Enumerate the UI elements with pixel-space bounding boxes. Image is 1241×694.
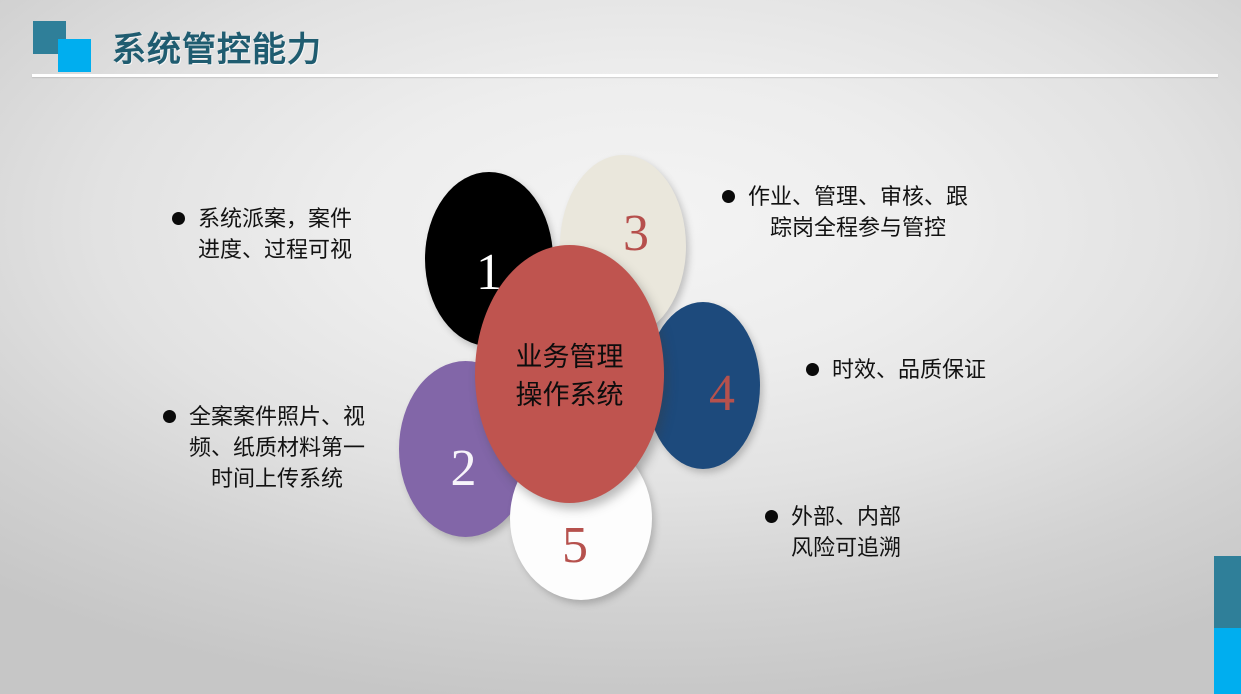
center-ellipse[interactable]: 业务管理 操作系统 [475,245,664,503]
callout-1: 系统派案，案件 进度、过程可视 [172,203,404,265]
callout-4-text: 时效、品质保证 [832,354,986,385]
callout-2-text: 全案案件照片、视 频、纸质材料第一 时间上传系统 [189,401,365,495]
petal-5-number: 5 [562,520,588,572]
callout-3: 作业、管理、审核、跟 踪岗全程参与管控 [722,181,1022,243]
bullet-icon [163,410,176,423]
callout-5: 外部、内部 风险可追溯 [765,501,995,563]
bullet-icon [722,190,735,203]
callout-4: 时效、品质保证 [806,354,1046,385]
callout-1-text: 系统派案，案件 进度、过程可视 [198,203,352,265]
callout-2: 全案案件照片、视 频、纸质材料第一 时间上传系统 [163,401,413,495]
bullet-icon [806,363,819,376]
callout-5-text: 外部、内部 风险可追溯 [791,501,901,563]
petal-2-number: 2 [451,443,477,495]
center-label: 业务管理 操作系统 [516,338,624,415]
bullet-icon [172,212,185,225]
petal-4-number: 4 [709,368,735,420]
callout-3-text: 作业、管理、审核、跟 踪岗全程参与管控 [748,181,968,243]
bullet-icon [765,510,778,523]
petal-3-number: 3 [623,208,649,260]
petal-diagram: 1 3 4 2 5 业务管理 操作系统 [0,0,1241,694]
slide-canvas: 系统管控能力 1 3 4 2 5 业务管理 操作系统 系统派案，案件 进度、过程… [0,0,1241,694]
